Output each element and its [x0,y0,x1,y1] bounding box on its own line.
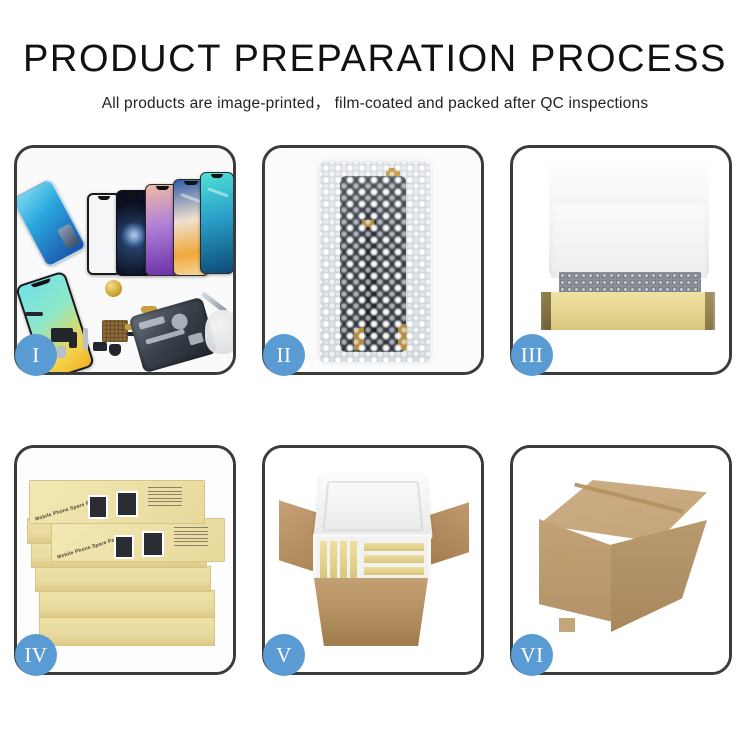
step-badge-2: II [263,334,305,376]
box-label-line-2: Mobile Phone Spare Parts [57,535,122,560]
foam-lid [313,475,433,540]
header: PRODUCT PREPARATION PROCESS All products… [0,40,750,113]
phone-blue-back [17,178,87,268]
step-badge-5: V [263,634,305,676]
camera-lens-part [105,280,122,297]
carton-tape-lower [559,618,575,632]
panel-step-3: III [510,145,732,375]
bubble-wrap-bag [320,162,430,362]
step-badge-3: III [511,334,553,376]
foam-insert [551,200,707,278]
foam-liner [313,534,431,582]
box-stack: Mobile Phone Spare Parts Mobile Phone Sp… [25,462,231,664]
process-steps-grid: I II [14,145,737,675]
step-badge-1: I [15,334,57,376]
panel-step-6: VI [510,445,732,675]
hand-holding-part [205,310,233,354]
page-title: PRODUCT PREPARATION PROCESS [0,40,750,80]
page-subtitle: All products are image-printed， film-coa… [0,91,750,113]
phone-teal-display [200,172,233,274]
panel-step-1: I [14,145,236,375]
panel-step-2: II [262,145,484,375]
product-preparation-infographic: PRODUCT PREPARATION PROCESS All products… [0,0,750,750]
yellow-box-body [543,292,713,330]
step-badge-4: IV [15,634,57,676]
bubble-texture-overlay [320,162,430,362]
step-badge-6: VI [511,634,553,676]
panel-step-5: V [262,445,484,675]
carton-tape-upper [555,550,571,566]
panel-step-4: Mobile Phone Spare Parts Mobile Phone Sp… [14,445,236,675]
carton-body [309,578,433,646]
